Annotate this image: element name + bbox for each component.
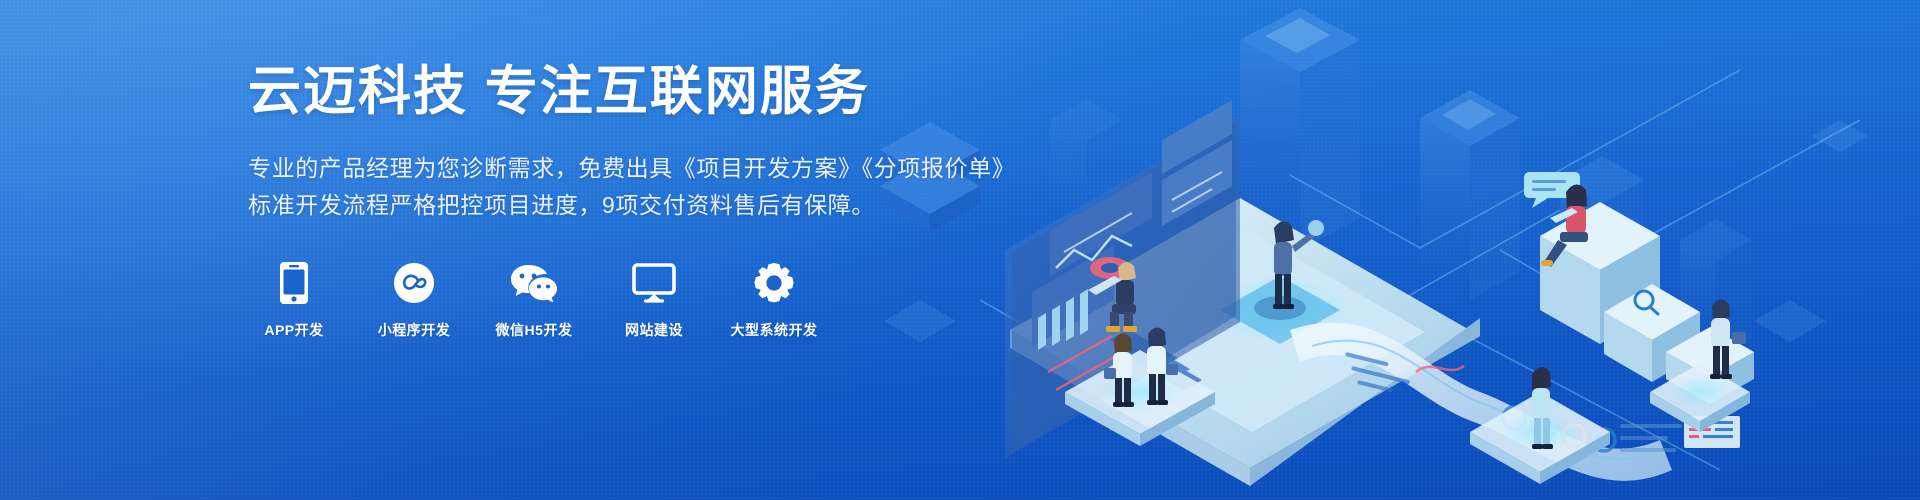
service-label: APP开发 (264, 320, 323, 340)
service-item-website[interactable]: 网站建设 (608, 260, 700, 340)
monitor-icon (632, 260, 676, 306)
mobile-phone-icon (279, 260, 309, 306)
mini-program-icon (393, 260, 435, 306)
banner-content: 云迈科技 专注互联网服务 专业的产品经理为您诊断需求，免费出具《项目开发方案》《… (248, 62, 1148, 340)
service-label: 网站建设 (625, 320, 683, 340)
hero-banner: 云迈科技 专注互联网服务 专业的产品经理为您诊断需求，免费出具《项目开发方案》《… (0, 0, 1920, 500)
subtitle-line-2: 标准开发流程严格把控项目进度，9项交付资料售后有保障。 (248, 187, 1148, 224)
gear-icon (753, 260, 795, 306)
service-item-app[interactable]: APP开发 (248, 260, 340, 340)
subtitle-line-1: 专业的产品经理为您诊断需求，免费出具《项目开发方案》《分项报价单》 (248, 150, 1148, 187)
service-item-wechat-h5[interactable]: 微信H5开发 (488, 260, 580, 340)
banner-subtitle: 专业的产品经理为您诊断需求，免费出具《项目开发方案》《分项报价单》 标准开发流程… (248, 150, 1148, 225)
service-label: 微信H5开发 (496, 320, 573, 340)
banner-title: 云迈科技 专注互联网服务 (248, 62, 1148, 123)
wechat-icon (510, 260, 558, 306)
service-list: APP开发 小程序开发 (248, 260, 1148, 340)
service-label: 小程序开发 (378, 320, 451, 340)
service-item-large-system[interactable]: 大型系统开发 (728, 260, 820, 340)
service-item-mini-program[interactable]: 小程序开发 (368, 260, 460, 340)
service-label: 大型系统开发 (731, 320, 818, 340)
